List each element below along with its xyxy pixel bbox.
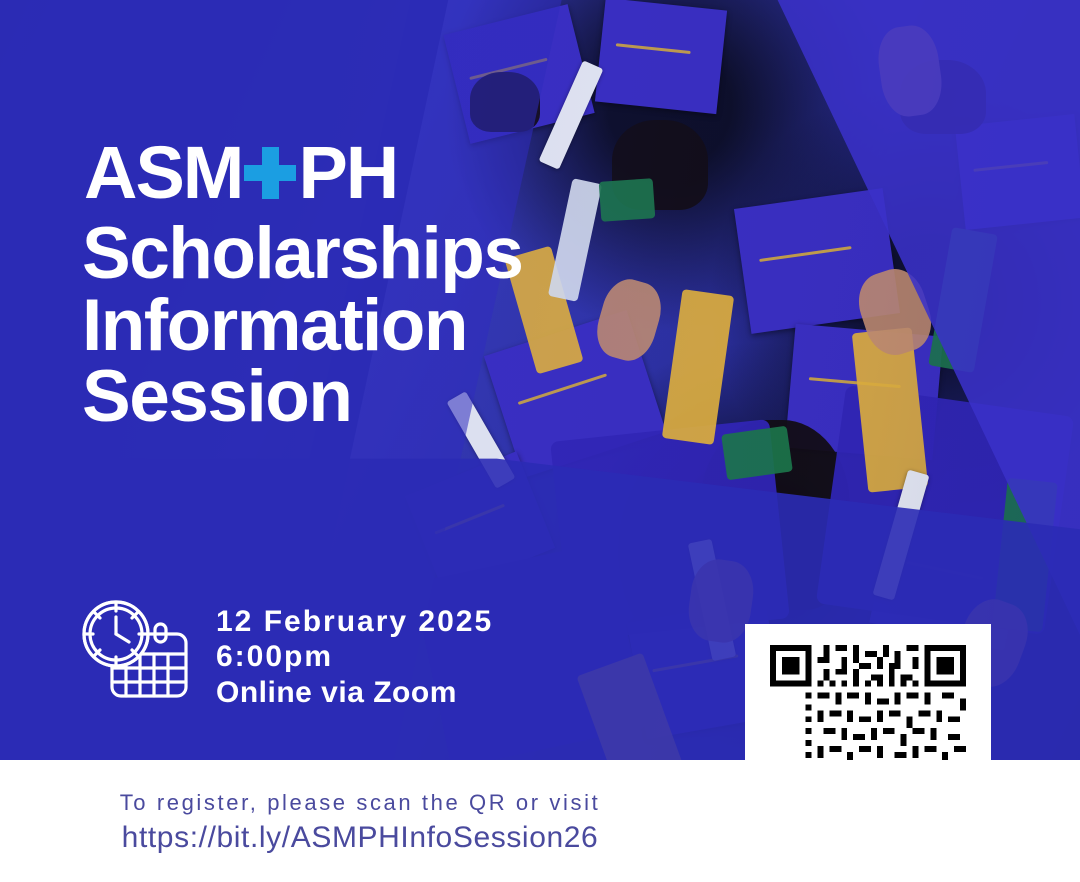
- headline-line-3: Session: [82, 361, 512, 433]
- clock-calendar-icon: [78, 598, 194, 706]
- event-text-block: 12 February 2025 6:00pm Online via Zoom: [216, 598, 493, 710]
- headline-line-2: Information: [82, 290, 512, 362]
- poster-content: ASM PH Scholarships Information Session: [0, 0, 1080, 882]
- registration-info: To register, please scan the QR or visit…: [0, 788, 720, 857]
- footer-band: To register, please scan the QR or visit…: [0, 760, 1080, 882]
- event-date: 12 February 2025: [216, 604, 493, 639]
- brand-logo: ASM PH: [84, 136, 397, 210]
- register-instruction: To register, please scan the QR or visit: [0, 788, 720, 818]
- plus-icon: [244, 147, 296, 199]
- logo-text-ph: PH: [298, 136, 397, 210]
- registration-url[interactable]: https://bit.ly/ASMPHInfoSession26: [0, 818, 720, 857]
- poster-root: ASM PH Scholarships Information Session: [0, 0, 1080, 882]
- headline-line-1: Scholarships: [82, 218, 512, 290]
- event-location: Online via Zoom: [216, 675, 493, 710]
- event-details: 12 February 2025 6:00pm Online via Zoom: [78, 598, 493, 710]
- logo-text-asm: ASM: [84, 136, 242, 210]
- page-title: Scholarships Information Session: [82, 218, 512, 433]
- event-time: 6:00pm: [216, 639, 493, 674]
